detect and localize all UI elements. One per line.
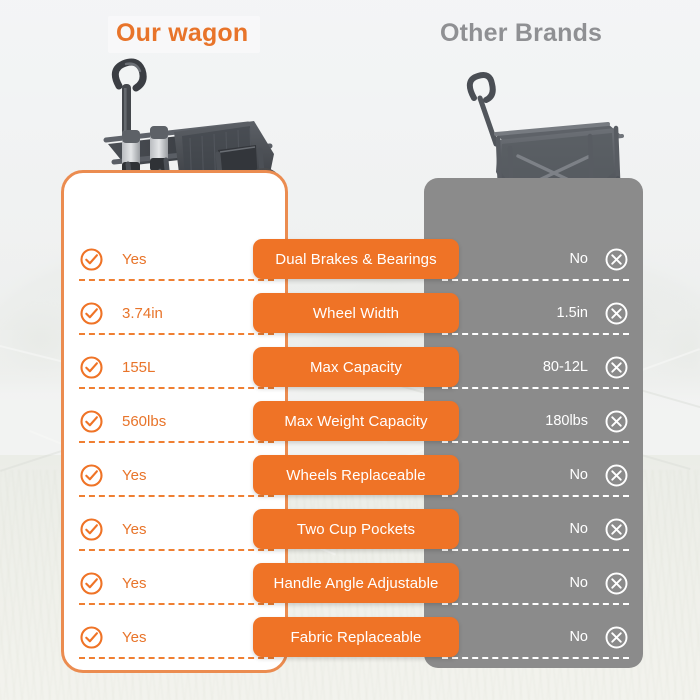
x-circle-icon bbox=[604, 625, 629, 650]
check-circle-icon bbox=[79, 247, 104, 272]
value-ours: Yes bbox=[104, 521, 274, 538]
row-separator bbox=[442, 495, 629, 497]
x-circle-icon bbox=[604, 409, 629, 434]
row-separator bbox=[442, 279, 629, 281]
feature-label: Dual Brakes & Bearings bbox=[275, 251, 436, 268]
x-circle-icon bbox=[604, 463, 629, 488]
check-circle-icon bbox=[79, 301, 104, 326]
value-other: No bbox=[442, 575, 604, 591]
feature-pill: Max Weight Capacity bbox=[253, 401, 459, 441]
value-ours: Yes bbox=[104, 251, 274, 268]
row-separator bbox=[79, 333, 274, 335]
row-separator bbox=[442, 603, 629, 605]
row-separator bbox=[79, 603, 274, 605]
check-circle-icon bbox=[79, 625, 104, 650]
row-separator bbox=[79, 495, 274, 497]
row-separator bbox=[79, 549, 274, 551]
row-separator bbox=[442, 549, 629, 551]
row-separator bbox=[442, 657, 629, 659]
feature-label: Max Weight Capacity bbox=[284, 413, 427, 430]
feature-pill: Wheel Width bbox=[253, 293, 459, 333]
x-circle-icon bbox=[604, 517, 629, 542]
check-circle-icon bbox=[79, 463, 104, 488]
feature-label: Fabric Replaceable bbox=[290, 629, 421, 646]
value-ours: Yes bbox=[104, 629, 274, 646]
x-circle-icon bbox=[604, 571, 629, 596]
value-other: 180lbs bbox=[442, 413, 604, 429]
check-circle-icon bbox=[79, 409, 104, 434]
feature-label: Two Cup Pockets bbox=[297, 521, 415, 538]
check-circle-icon bbox=[79, 355, 104, 380]
x-circle-icon bbox=[604, 355, 629, 380]
row-separator bbox=[442, 333, 629, 335]
row-separator bbox=[79, 279, 274, 281]
feature-label: Max Capacity bbox=[310, 359, 402, 376]
feature-label: Handle Angle Adjustable bbox=[274, 575, 439, 592]
value-other: 1.5in bbox=[442, 305, 604, 321]
feature-pill: Fabric Replaceable bbox=[253, 617, 459, 657]
feature-label: Wheels Replaceable bbox=[286, 467, 425, 484]
value-ours: 155L bbox=[104, 359, 274, 376]
feature-pill: Two Cup Pockets bbox=[253, 509, 459, 549]
row-separator bbox=[79, 657, 274, 659]
value-ours: 560lbs bbox=[104, 413, 274, 430]
row-separator bbox=[442, 387, 629, 389]
feature-pill: Wheels Replaceable bbox=[253, 455, 459, 495]
feature-label: Wheel Width bbox=[313, 305, 399, 322]
x-circle-icon bbox=[604, 301, 629, 326]
feature-pill: Max Capacity bbox=[253, 347, 459, 387]
feature-pill: Handle Angle Adjustable bbox=[253, 563, 459, 603]
row-separator bbox=[79, 387, 274, 389]
value-other: No bbox=[442, 521, 604, 537]
column-header-other: Other Brands bbox=[440, 19, 602, 48]
value-other: No bbox=[442, 251, 604, 267]
value-other: 80-12L bbox=[442, 359, 604, 375]
value-other: No bbox=[442, 467, 604, 483]
check-circle-icon bbox=[79, 517, 104, 542]
value-other: No bbox=[442, 629, 604, 645]
row-separator bbox=[79, 441, 274, 443]
column-header-ours: Our wagon bbox=[108, 16, 260, 53]
value-ours: Yes bbox=[104, 467, 274, 484]
check-circle-icon bbox=[79, 571, 104, 596]
feature-pill: Dual Brakes & Bearings bbox=[253, 239, 459, 279]
value-ours: 3.74in bbox=[104, 305, 274, 322]
x-circle-icon bbox=[604, 247, 629, 272]
row-separator bbox=[442, 441, 629, 443]
value-ours: Yes bbox=[104, 575, 274, 592]
